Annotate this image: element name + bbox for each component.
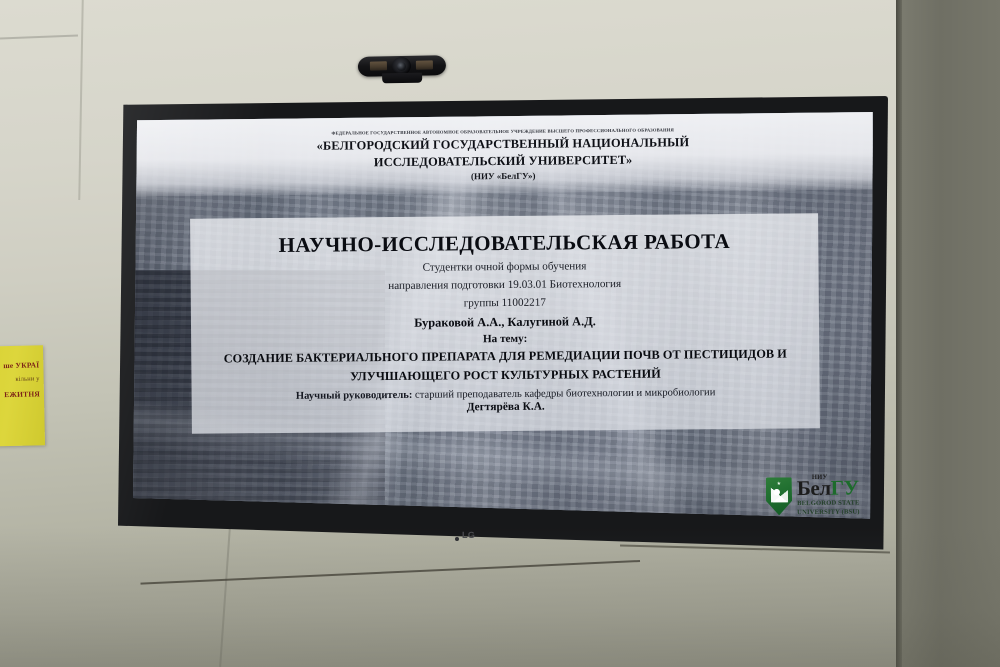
belgu-english-line-1: BELGOROD STATE <box>797 500 860 509</box>
ir-sensor-icon <box>455 537 459 541</box>
slide-content-panel: НАУЧНО-ИССЛЕДОВАТЕЛЬСКАЯ РАБОТА Студентк… <box>190 213 820 434</box>
slide-title: НАУЧНО-ИССЛЕДОВАТЕЛЬСКАЯ РАБОТА <box>204 229 804 257</box>
webcam-mic-grille-right <box>416 60 433 69</box>
tv-brand-logo: LG <box>462 530 475 540</box>
on-theme-label: На тему: <box>205 331 805 348</box>
presentation-slide: ФЕДЕРАЛЬНОЕ ГОСУДАРСТВЕННОЕ АВТОНОМНОЕ О… <box>133 112 873 527</box>
sign-line-3: ЕЖИТНЯ <box>0 390 42 399</box>
slide-header: ФЕДЕРАЛЬНОЕ ГОСУДАРСТВЕННОЕ АВТОНОМНОЕ О… <box>133 112 873 197</box>
webcam-mic-grille-left <box>370 61 387 70</box>
belgu-wordmark: НИУБелГУ BELGOROD STATE UNIVERSITY (BSU) <box>796 477 859 517</box>
lion-emblem-icon <box>770 485 787 502</box>
tv-screen[interactable]: ФЕДЕРАЛЬНОЕ ГОСУДАРСТВЕННОЕ АВТОНОМНОЕ О… <box>133 112 873 527</box>
program-line: направления подготовки 19.03.01 Биотехно… <box>205 276 805 296</box>
wall-right-panel <box>900 0 1000 667</box>
group-line: группы 11002217 <box>205 294 805 314</box>
webcam-mount-clip <box>382 73 422 84</box>
authors-line: Бураковой А.А., Калугиной А.Д. <box>205 313 805 333</box>
room-scene: ше УКРАЇ кільни у ЕЖИТНЯ ФЕДЕРАЛЬНОЕ ГОС… <box>0 0 1000 667</box>
usb-webcam <box>358 55 446 83</box>
student-line: Студентки очной формы обучения <box>204 257 804 277</box>
yellow-notice-sign: ше УКРАЇ кільни у ЕЖИТНЯ <box>0 345 45 446</box>
theme-line-2: УЛУЧШАЮЩЕГО РОСТ КУЛЬТУРНЫХ РАСТЕНИЙ <box>205 366 805 386</box>
belgu-niu-superscript: НИУ <box>811 475 827 482</box>
sign-line-1: ше УКРАЇ <box>0 361 41 370</box>
belgu-main-word: НИУБелГУ <box>796 478 858 500</box>
wall-corner-edge <box>896 0 902 667</box>
belgu-gu: ГУ <box>830 476 858 500</box>
advisor-label: Научный руководитель: <box>296 390 413 402</box>
belgu-english-line-2: UNIVERSITY (BSU) <box>797 509 860 518</box>
shield-icon <box>765 477 791 515</box>
belgu-logo: НИУБелГУ BELGOROD STATE UNIVERSITY (BSU) <box>765 477 859 518</box>
wall-mounted-television: ФЕДЕРАЛЬНОЕ ГОСУДАРСТВЕННОЕ АВТОНОМНОЕ О… <box>118 96 888 556</box>
theme-line-1: СОЗДАНИЕ БАКТЕРИАЛЬНОГО ПРЕПАРАТА ДЛЯ РЕ… <box>205 347 805 367</box>
